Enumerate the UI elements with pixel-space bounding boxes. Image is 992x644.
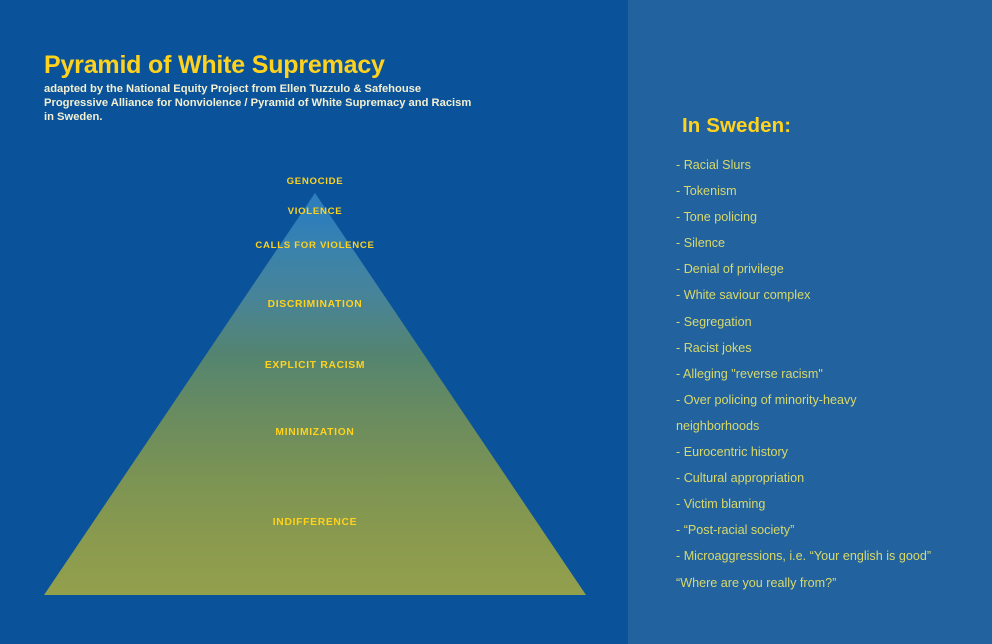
list-item: - White saviour complex bbox=[676, 282, 976, 308]
list-item: - Racist jokes bbox=[676, 335, 976, 361]
pyramid-level-label: EXPLICIT RACISM bbox=[44, 360, 586, 371]
pyramid-level-label: CALLS FOR VIOLENCE bbox=[44, 240, 586, 251]
list-item: - Tone policing bbox=[676, 204, 976, 230]
sweden-examples-list: - Racial Slurs- Tokenism- Tone policing-… bbox=[676, 152, 976, 596]
pyramid-level-label: DISCRIMINATION bbox=[44, 299, 586, 310]
list-item: - Denial of privilege bbox=[676, 256, 976, 282]
pyramid-level-label: MINIMIZATION bbox=[44, 427, 586, 438]
list-item: - Eurocentric history bbox=[676, 439, 976, 465]
page-subtitle: adapted by the National Equity Project f… bbox=[44, 83, 479, 124]
page-title: Pyramid of White Supremacy bbox=[44, 52, 564, 78]
list-item: - Tokenism bbox=[676, 178, 976, 204]
list-item: - Over policing of minority-heavy neighb… bbox=[676, 387, 941, 439]
list-item: - Cultural appropriation bbox=[676, 465, 976, 491]
pyramid-level-label: VIOLENCE bbox=[44, 206, 586, 217]
sweden-heading: In Sweden: bbox=[682, 114, 791, 138]
list-item: - Alleging "reverse racism" bbox=[676, 361, 976, 387]
list-item: - Microaggressions, i.e. “Your english i… bbox=[676, 543, 941, 595]
list-item: - Racial Slurs bbox=[676, 152, 976, 178]
pyramid-level-label: GENOCIDE bbox=[44, 176, 586, 187]
pyramid-diagram: GENOCIDEVIOLENCECALLS FOR VIOLENCEDISCRI… bbox=[44, 193, 586, 595]
header-block: Pyramid of White Supremacy adapted by th… bbox=[44, 52, 564, 124]
infographic-page: Pyramid of White Supremacy adapted by th… bbox=[0, 0, 992, 644]
list-item: - Silence bbox=[676, 230, 976, 256]
list-item: - Victim blaming bbox=[676, 491, 976, 517]
pyramid-level-label: INDIFFERENCE bbox=[44, 517, 586, 528]
list-item: - “Post-racial society” bbox=[676, 517, 976, 543]
pyramid-triangle bbox=[44, 193, 586, 595]
list-item: - Segregation bbox=[676, 309, 976, 335]
